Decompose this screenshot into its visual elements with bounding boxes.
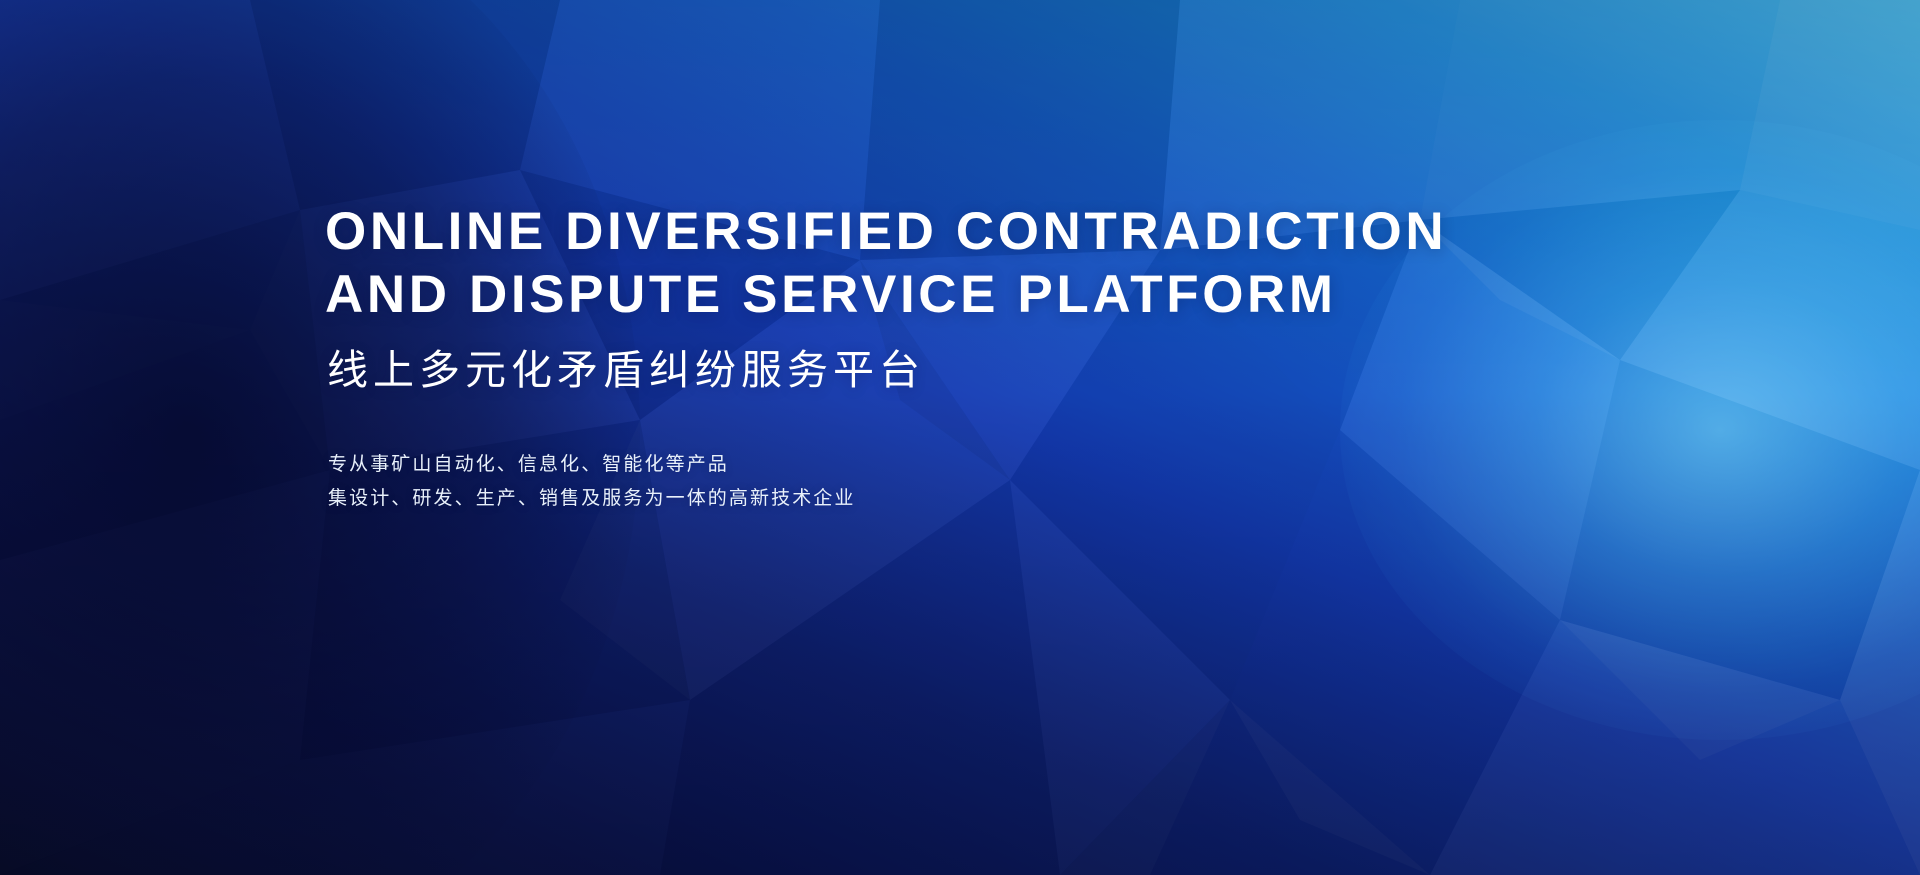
description-line-2: 集设计、研发、生产、销售及服务为一体的高新技术企业 — [328, 482, 1725, 516]
description-block: 专从事矿山自动化、信息化、智能化等产品 集设计、研发、生产、销售及服务为一体的高… — [328, 448, 1725, 516]
subtitle-chinese: 线上多元化矛盾纠纷服务平台 — [327, 344, 1725, 396]
description-line-1: 专从事矿山自动化、信息化、智能化等产品 — [328, 448, 1725, 482]
headline-line-2: AND DISPUTE SERVICE PLATFORM — [325, 263, 1725, 326]
headline-line-1: ONLINE DIVERSIFIED CONTRADICTION — [325, 200, 1725, 263]
hero-content: ONLINE DIVERSIFIED CONTRADICTION AND DIS… — [325, 200, 1725, 516]
hero-banner: ONLINE DIVERSIFIED CONTRADICTION AND DIS… — [0, 0, 1920, 875]
